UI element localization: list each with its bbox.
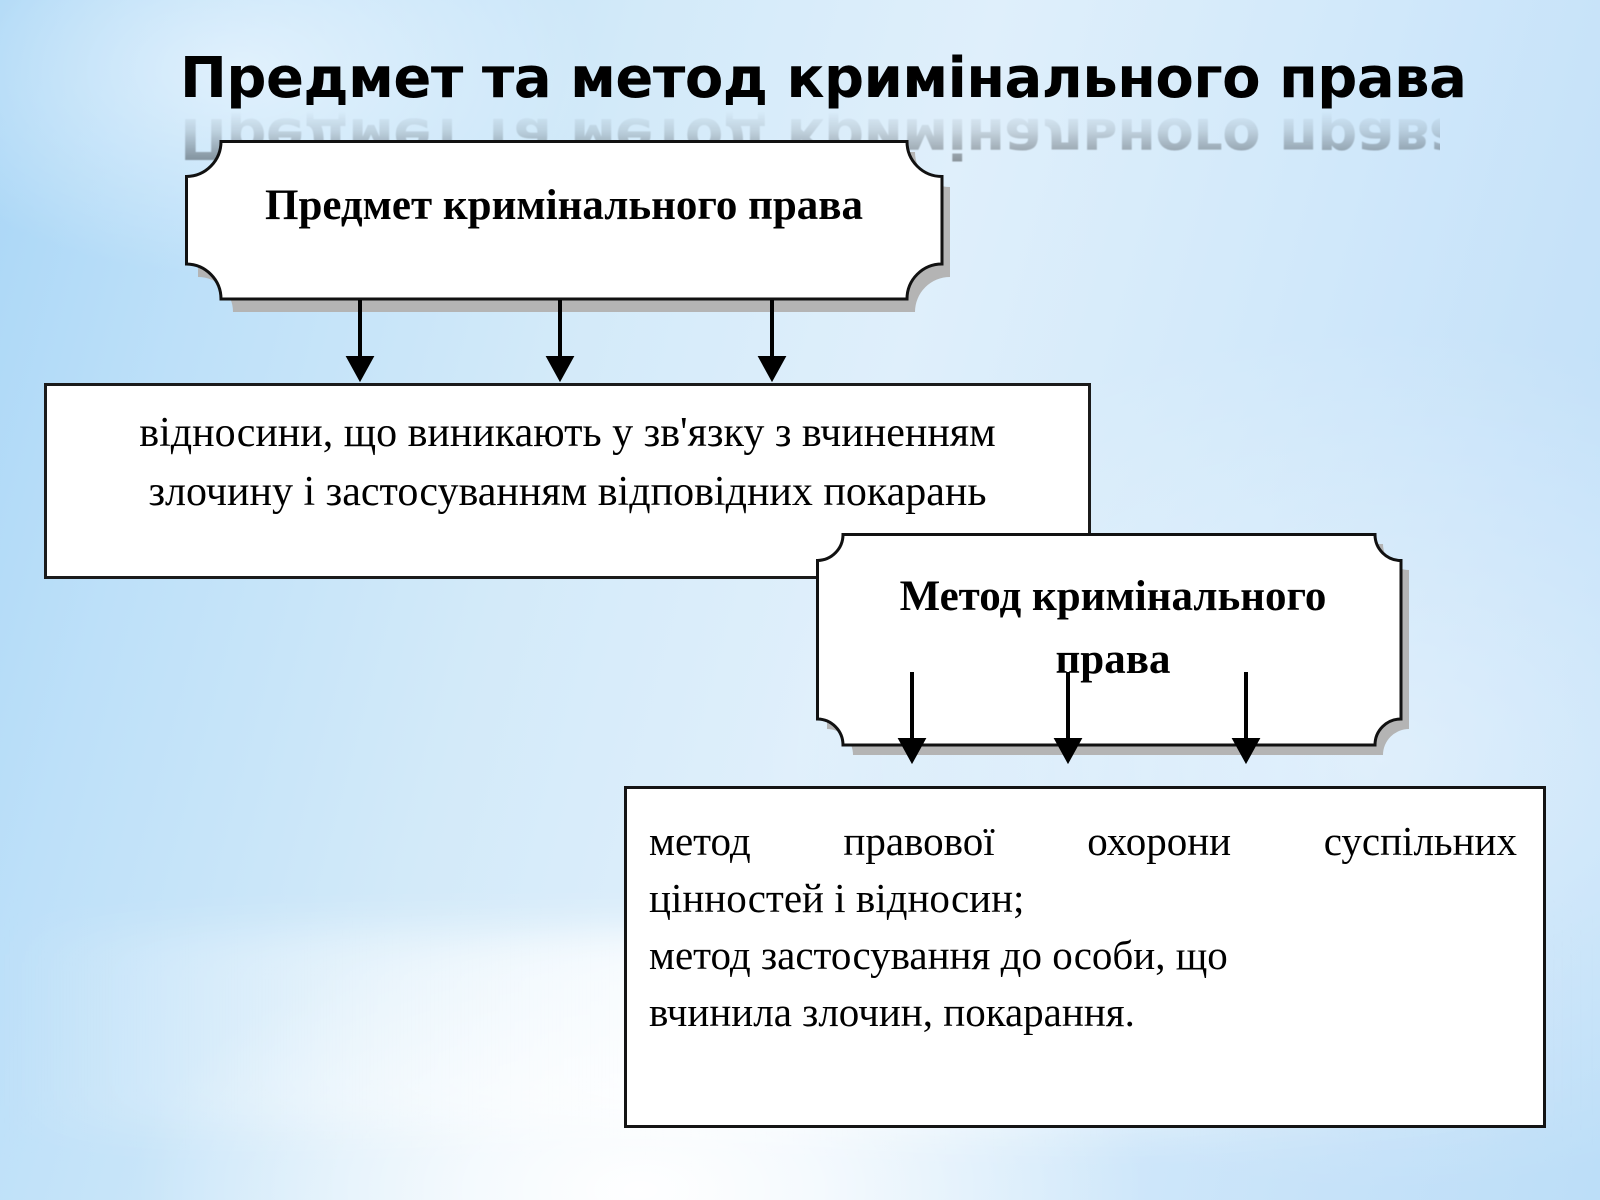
methods-list-line-1: метод правової охорони суспільних	[649, 813, 1517, 870]
arrow-head	[549, 358, 571, 378]
methods-list-line-4: вчинила злочин, покарання.	[649, 984, 1517, 1041]
methods-list-line-2: цінностей і відносин;	[649, 870, 1517, 927]
node-relations-label: відносини, що виникають у зв'язку з вчин…	[47, 386, 1088, 522]
node-methods-list-text: метод правової охорони суспільних ціннос…	[627, 789, 1543, 1041]
arrow-head	[761, 358, 783, 378]
slide-canvas: Предмет та метод кримінального права Пре…	[0, 0, 1600, 1200]
slide-title: Предмет та метод кримінального права	[180, 48, 1440, 110]
node-subject[interactable]: Предмет кримінального права	[186, 140, 942, 300]
node-subject-label: Предмет кримінального права	[216, 174, 912, 237]
methods-list-line-3: метод застосування до особи, що	[649, 927, 1517, 984]
node-method-label: Метод кримінального права	[856, 565, 1370, 691]
node-method[interactable]: Метод кримінального права	[816, 533, 1410, 747]
node-methods-list[interactable]: метод правової охорони суспільних ціннос…	[624, 786, 1546, 1128]
arrow-head	[349, 358, 371, 378]
